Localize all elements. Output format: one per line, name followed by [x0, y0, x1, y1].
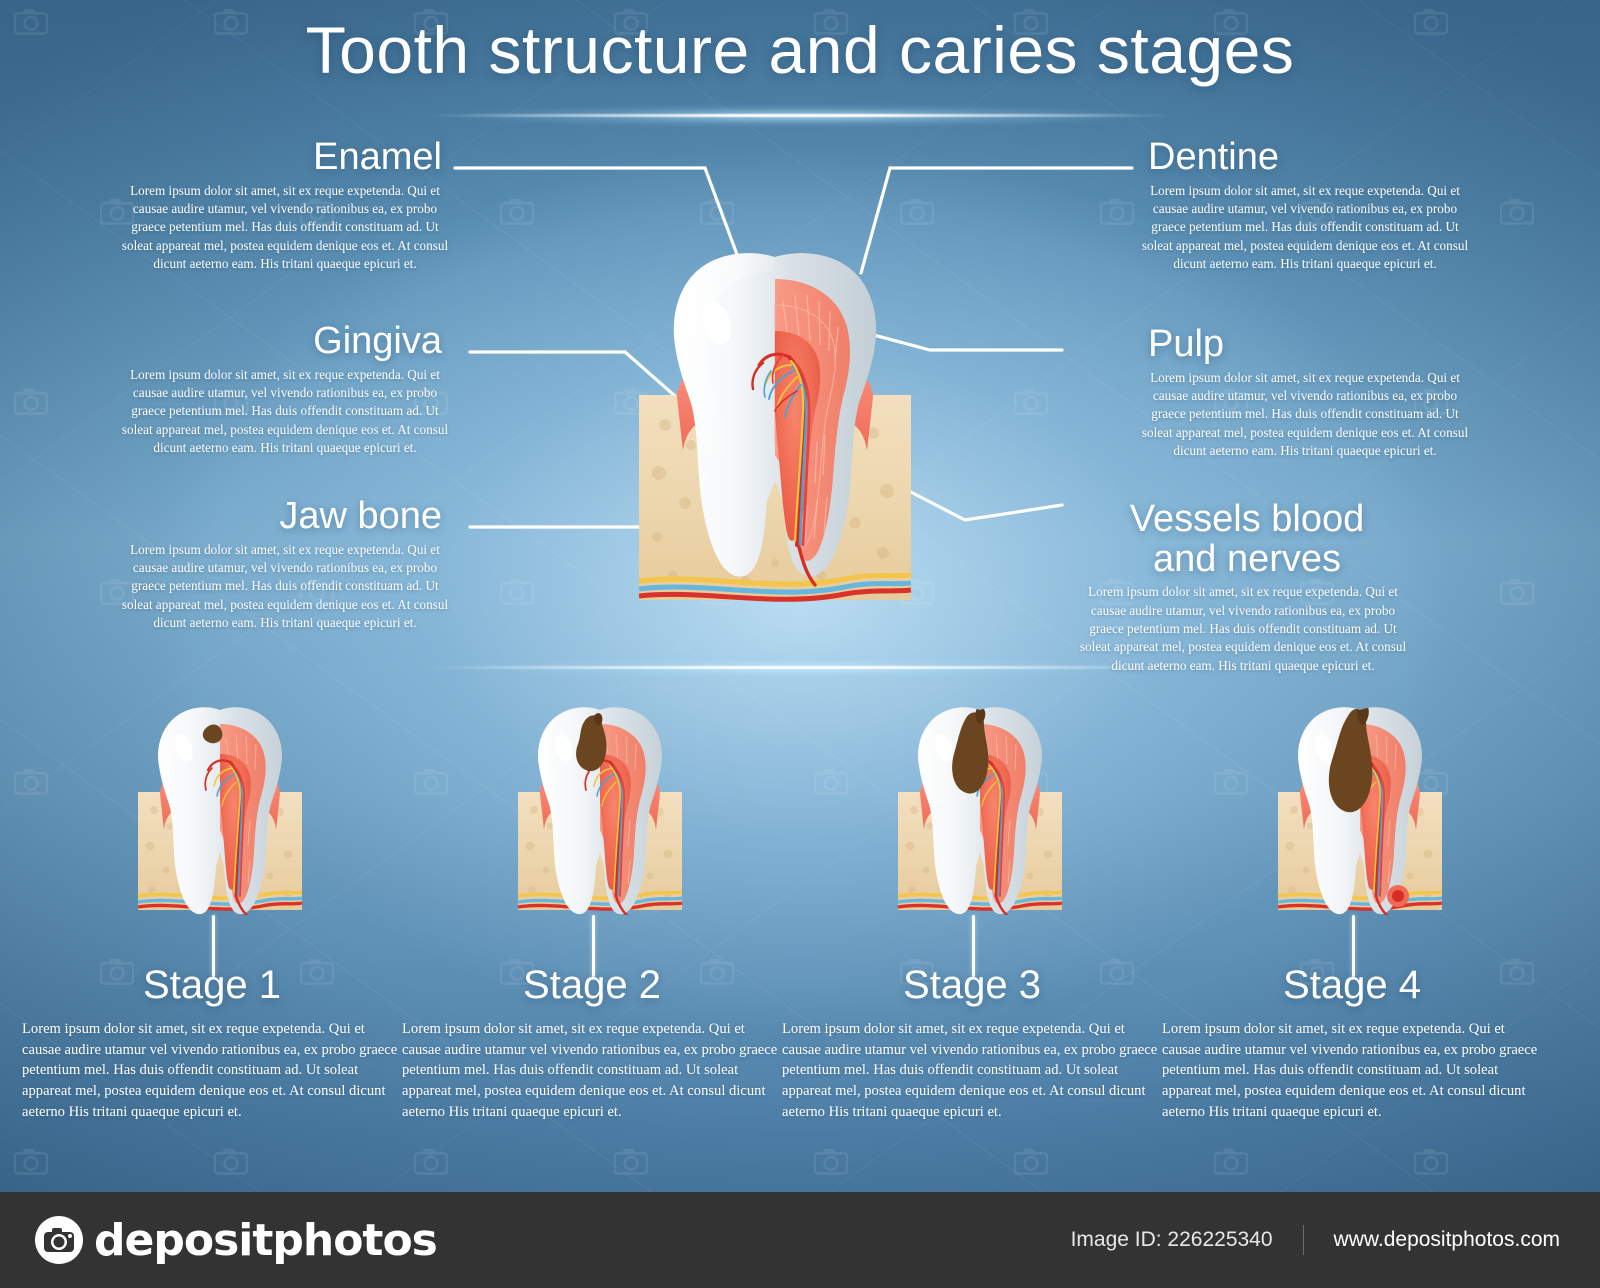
stage-4-body: Lorem ipsum dolor sit amet, sit ex reque…	[1162, 1019, 1542, 1123]
callout-pulp-heading: Pulp	[1140, 325, 1470, 365]
stage-1-column: Stage 1 Lorem ipsum dolor sit amet, sit …	[22, 965, 402, 1123]
callout-dentine: Dentine Lorem ipsum dolor sit amet, sit …	[1140, 138, 1470, 274]
callout-vessels-blood-and-nerves: Vessels blood and nerves Lorem ipsum dol…	[1078, 500, 1408, 675]
callout-dentine-heading: Dentine	[1140, 138, 1470, 178]
stage-2-tooth-diagram	[510, 700, 690, 915]
callout-vessels-body: Lorem ipsum dolor sit amet, sit ex reque…	[1078, 583, 1408, 675]
callout-vessels-heading: Vessels blood and nerves	[1078, 500, 1408, 579]
stage-4-tooth-diagram	[1270, 700, 1450, 915]
callout-enamel-body: Lorem ipsum dolor sit amet, sit ex reque…	[120, 182, 450, 274]
camera-icon	[34, 1215, 84, 1265]
stage-2-column: Stage 2 Lorem ipsum dolor sit amet, sit …	[402, 965, 782, 1123]
stage-4-column: Stage 4 Lorem ipsum dolor sit amet, sit …	[1162, 965, 1542, 1123]
footer-image-id: Image ID: 226225340	[1071, 1228, 1273, 1252]
callout-jaw-bone: Jaw bone Lorem ipsum dolor sit amet, sit…	[120, 497, 450, 633]
callout-gingiva-body: Lorem ipsum dolor sit amet, sit ex reque…	[120, 366, 450, 458]
stage-2-body: Lorem ipsum dolor sit amet, sit ex reque…	[402, 1019, 782, 1123]
footer-meta: Image ID: 226225340 www.depositphotos.co…	[1071, 1225, 1560, 1255]
footer-url[interactable]: www.depositphotos.com	[1334, 1228, 1560, 1252]
page-title: Tooth structure and caries stages	[0, 12, 1600, 88]
stage-4-title: Stage 4	[1162, 965, 1542, 1005]
stage-3-title: Stage 3	[782, 965, 1162, 1005]
callout-gingiva-heading: Gingiva	[120, 322, 450, 362]
footer-separator	[1303, 1225, 1304, 1255]
stage-1-title: Stage 1	[22, 965, 402, 1005]
stage-1-body: Lorem ipsum dolor sit amet, sit ex reque…	[22, 1019, 402, 1123]
callout-jaw-bone-heading: Jaw bone	[120, 497, 450, 537]
callout-gingiva: Gingiva Lorem ipsum dolor sit amet, sit …	[120, 322, 450, 458]
periapical-abscess	[1387, 885, 1409, 907]
callout-pulp: Pulp Lorem ipsum dolor sit amet, sit ex …	[1140, 325, 1470, 461]
depositphotos-logo: depositphotos	[34, 1215, 437, 1266]
callout-enamel: Enamel Lorem ipsum dolor sit amet, sit e…	[120, 138, 450, 274]
stage-3-column: Stage 3 Lorem ipsum dolor sit amet, sit …	[782, 965, 1162, 1123]
stage-3-tooth-diagram	[890, 700, 1070, 915]
footer-watermark-bar: depositphotos Image ID: 226225340 www.de…	[0, 1192, 1600, 1288]
stage-2-title: Stage 2	[402, 965, 782, 1005]
footer-brand: depositphotos	[94, 1215, 437, 1266]
callout-enamel-heading: Enamel	[120, 138, 450, 178]
stage-1-tooth-diagram	[130, 700, 310, 915]
main-tooth-diagram	[625, 245, 925, 615]
callout-jaw-bone-body: Lorem ipsum dolor sit amet, sit ex reque…	[120, 541, 450, 633]
callout-pulp-body: Lorem ipsum dolor sit amet, sit ex reque…	[1140, 369, 1470, 461]
stage-3-body: Lorem ipsum dolor sit amet, sit ex reque…	[782, 1019, 1162, 1123]
callout-dentine-body: Lorem ipsum dolor sit amet, sit ex reque…	[1140, 182, 1470, 274]
